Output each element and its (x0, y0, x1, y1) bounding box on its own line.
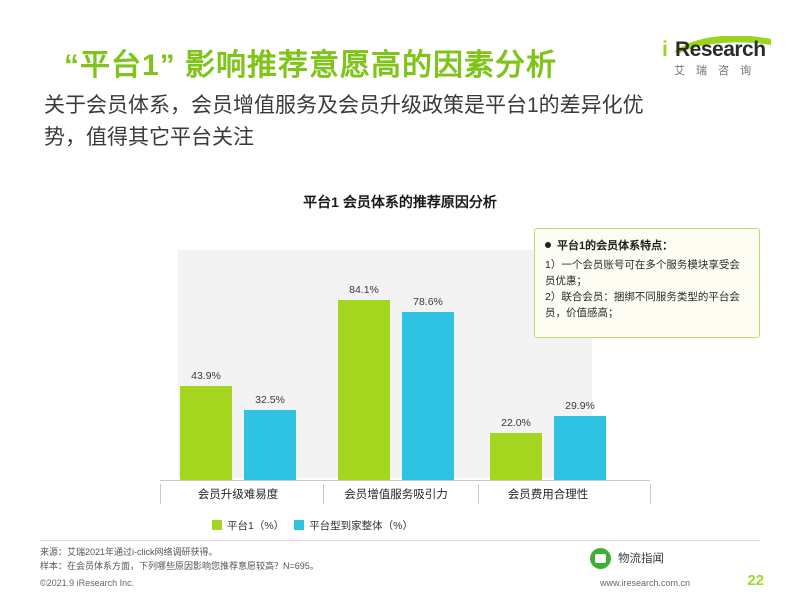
category-label-1: 会员增值服务吸引力 (326, 486, 466, 502)
category-label-2: 会员费用合理性 (478, 486, 618, 502)
note-line-0: 1）一个会员账号可在多个服务模块享受会员优惠； (545, 257, 749, 289)
note-heading: 平台1的会员体系特点： (557, 237, 673, 253)
legend-label-0: 平台1（%） (227, 518, 284, 533)
footer-divider (40, 540, 760, 541)
bar-value-label-2-0: 22.0% (481, 417, 551, 429)
footer-copyright: ©2021.9 iResearch Inc. (40, 578, 134, 588)
slide-root: “平台1” 影响推荐意愿高的因素分析 关于会员体系，会员增值服务及会员升级政策是… (0, 0, 800, 600)
watermark-name: 物流指闻 (618, 550, 664, 566)
footer-sample: 样本：在会员体系方面，下列哪些原因影响您推荐意愿较高？N=695。 (40, 559, 319, 573)
wechat-icon (590, 548, 611, 569)
logo-chinese-name: 艾 瑞 咨 询 (674, 62, 755, 78)
iresearch-logo: i Research 艾 瑞 咨 询 (662, 36, 772, 80)
bar-1-1 (402, 312, 454, 480)
footer-source: 来源：艾瑞2021年通过i-click网络调研获得。 (40, 545, 319, 559)
axis-tick-1 (323, 484, 324, 504)
axis-tick-2 (478, 484, 479, 504)
bar-value-label-1-1: 78.6% (393, 296, 463, 308)
page-number: 22 (747, 572, 764, 589)
footer-notes: 来源：艾瑞2021年通过i-click网络调研获得。 样本：在会员体系方面，下列… (40, 545, 319, 573)
bar-value-label-0-0: 43.9% (171, 370, 241, 382)
bar-2-1 (554, 416, 606, 480)
bar-1-0 (338, 300, 390, 480)
footer-website: www.iresearch.com.cn (600, 578, 690, 588)
bar-value-label-2-1: 29.9% (545, 400, 615, 412)
legend-swatch-blue (294, 520, 304, 530)
bar-0-0 (180, 386, 232, 480)
axis-tick-3 (650, 484, 651, 504)
category-label-0: 会员升级难易度 (168, 486, 308, 502)
chart-legend: 平台1（%） 平台型到家整体（%） (212, 516, 572, 534)
page-subtitle: 关于会员体系，会员增值服务及会员升级政策是平台1的差异化优势，值得其它平台关注 (44, 90, 644, 154)
bullet-icon (545, 242, 551, 248)
chart-title: 平台1 会员体系的推荐原因分析 (0, 192, 800, 212)
page-title: “平台1” 影响推荐意愿高的因素分析 (64, 40, 664, 84)
bar-value-label-1-0: 84.1% (329, 284, 399, 296)
legend-label-1: 平台型到家整体（%） (309, 518, 413, 533)
note-heading-row: 平台1的会员体系特点： (545, 237, 749, 253)
legend-swatch-green (212, 520, 222, 530)
axis-tick-0 (160, 484, 161, 504)
legend-item-1: 平台型到家整体（%） (294, 518, 413, 533)
x-axis (160, 480, 650, 481)
legend-item-0: 平台1（%） (212, 518, 284, 533)
bar-value-label-0-1: 32.5% (235, 394, 305, 406)
logo-i: i (662, 38, 668, 62)
watermark-badge: 物流指闻 (590, 545, 760, 571)
note-line-1: 2）联合会员：捆绑不同服务类型的平台会员，价值感高； (545, 289, 749, 321)
bar-2-0 (490, 433, 542, 480)
logo-research: Research (675, 38, 766, 62)
note-box: 平台1的会员体系特点： 1）一个会员账号可在多个服务模块享受会员优惠； 2）联合… (534, 228, 760, 338)
bar-0-1 (244, 410, 296, 480)
